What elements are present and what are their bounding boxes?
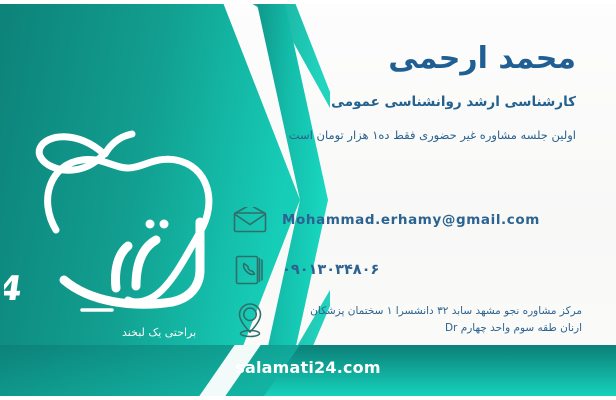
- address-line-2: ارنان طقه سوم واحد چهارم Dr: [282, 320, 582, 337]
- footer-url[interactable]: salamati24.com: [0, 358, 616, 377]
- location-pin-icon: [230, 300, 270, 340]
- person-name: محمد ارحمی: [388, 44, 576, 74]
- card-edge-bottom: [0, 396, 616, 400]
- envelope-icon: [230, 200, 270, 240]
- footer-bar: salamati24.com: [0, 345, 616, 396]
- phone-book-icon: [230, 250, 270, 290]
- address-value: مرکز مشاوره نجو مشهد سابد ٣٢ دانشسرا ١ س…: [282, 303, 582, 338]
- info-column: محمد ارحمی کارشناسی ارشد روانشناسی عمومی…: [230, 0, 598, 345]
- phone-value[interactable]: ۰۹۰۱۳۰۳۴۸۰۶: [282, 262, 582, 278]
- email-value[interactable]: Mohammad.erhamy@gmail.com: [282, 212, 582, 228]
- contact-list: Mohammad.erhamy@gmail.com ۰۹۰۱۳۰۳۴۸۰۶: [230, 200, 582, 350]
- contact-row-address[interactable]: مرکز مشاوره نجو مشهد سابد ٣٢ دانشسرا ١ س…: [230, 300, 582, 340]
- svg-text:24: 24: [4, 269, 25, 309]
- badge-24: 24: [4, 269, 25, 309]
- address-line-1: مرکز مشاوره نجو مشهد سابد ٣٢ دانشسرا ١ س…: [310, 305, 582, 317]
- promo-text: اولین جلسه مشاوره غیر حضوری فقط ده١ هزار…: [289, 128, 576, 142]
- business-card: 24 براحتی یک لبخند www.salamati24.com مح…: [0, 0, 616, 400]
- person-role: کارشناسی ارشد روانشناسی عمومی: [331, 94, 576, 110]
- card-edge-top: [0, 0, 616, 4]
- brand-logo: 24 براحتی یک لبخند www.salamati24.com: [4, 104, 260, 276]
- contact-row-email[interactable]: Mohammad.erhamy@gmail.com: [230, 200, 582, 240]
- contact-row-phone[interactable]: ۰۹۰۱۳۰۳۴۸۰۶: [230, 250, 582, 290]
